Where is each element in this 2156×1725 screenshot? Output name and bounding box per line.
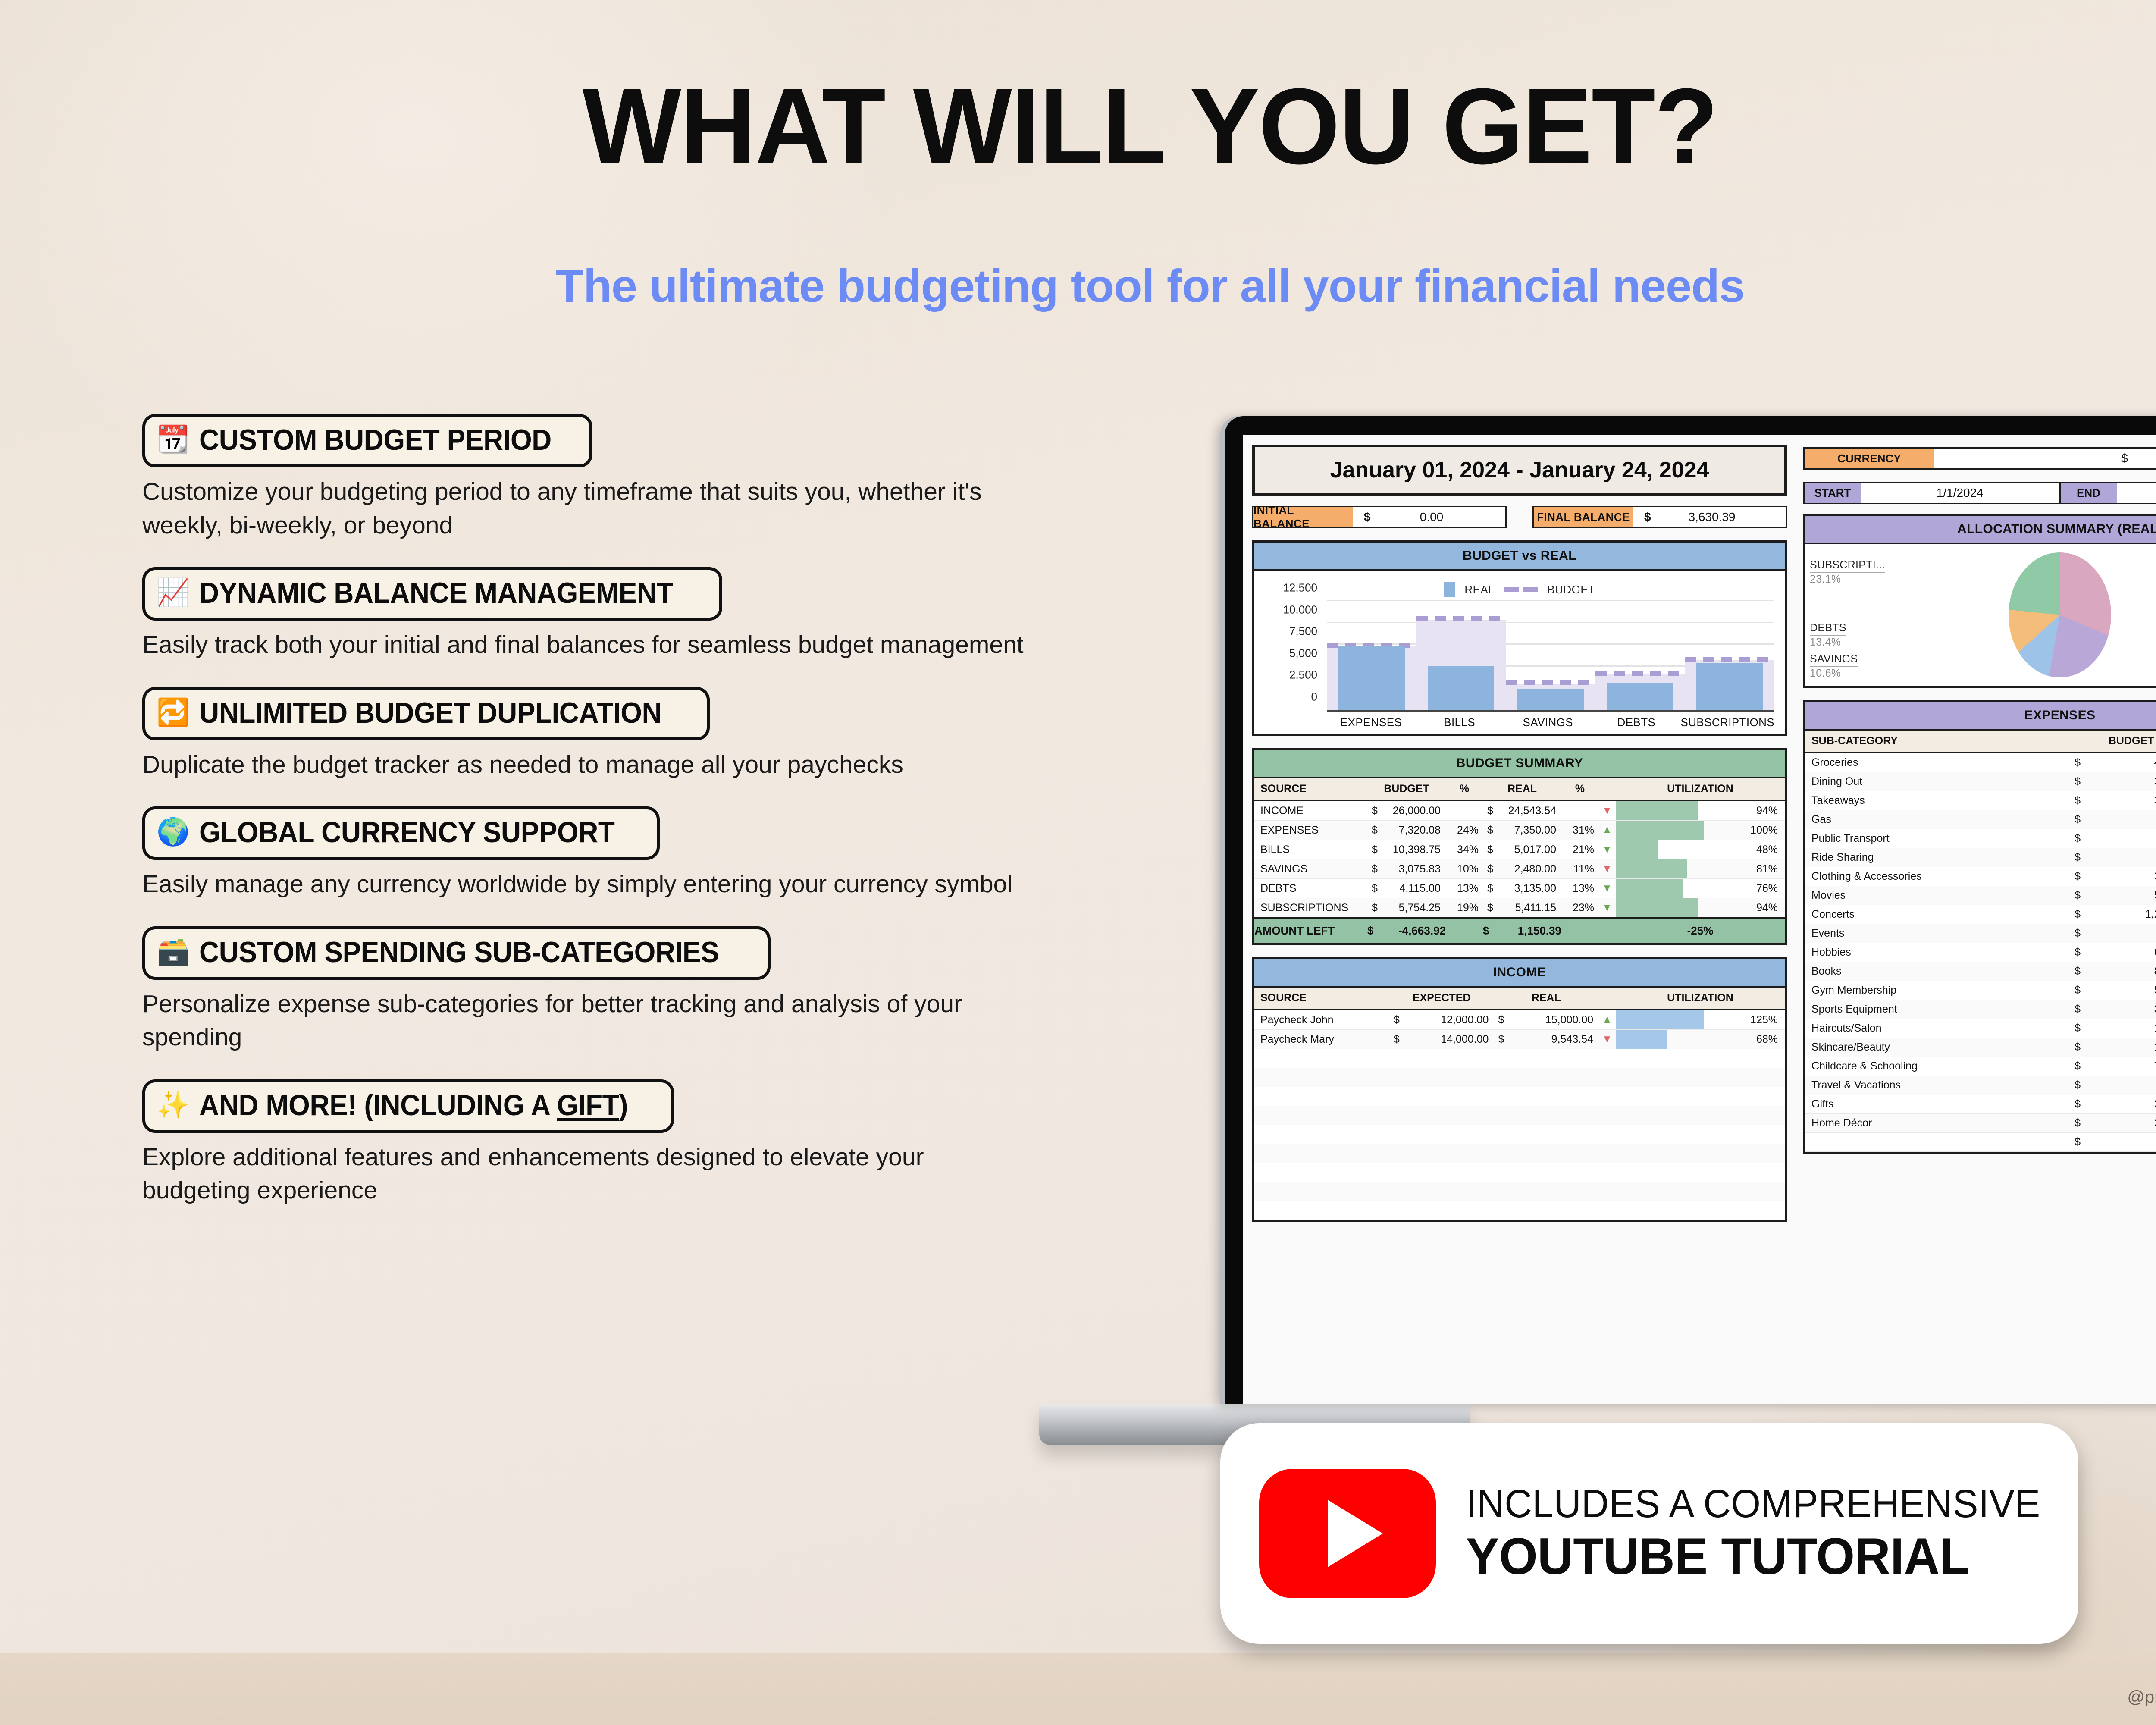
chart-x-tick: DEBTS xyxy=(1592,716,1680,729)
laptop-screen: January 01, 2024 - January 24, 2024 INIT… xyxy=(1243,435,2156,1404)
final-balance-amount: 3,630.39 xyxy=(1655,510,1774,524)
legend-label-real: REAL xyxy=(1464,583,1495,596)
cell-budget: 493.75 xyxy=(2085,753,2156,772)
table-row: INCOME $ 26,000.00 $ 24,543.54 ▼ 94% xyxy=(1254,800,1785,821)
cell-subcategory: Public Transport xyxy=(1805,829,2070,848)
pie-label-savings: SAVINGS10.6% xyxy=(1810,653,1858,680)
calendar-icon: 📆 xyxy=(157,427,190,453)
cell-currency: $ xyxy=(1367,918,1382,943)
date-range-fields[interactable]: START 1/1/2024 END 1/24/2024 xyxy=(1803,482,2156,504)
cell-total-real: 1,150.39 xyxy=(1498,918,1561,943)
table-row-empty xyxy=(1254,1201,1785,1220)
cell-total-budget: -4,663.92 xyxy=(1382,918,1446,943)
final-balance-field[interactable]: FINAL BALANCE $ 3,630.39 xyxy=(1532,506,1787,528)
repeat-icon: 🔁 xyxy=(157,699,190,726)
bottom-band xyxy=(0,1653,2156,1725)
cell-budget: 125.00 xyxy=(2085,1019,2156,1038)
cell-source: INCOME xyxy=(1254,800,1367,821)
currency-field[interactable]: CURRENCY $ xyxy=(1803,447,2156,470)
cell-budget-pct: 13% xyxy=(1446,879,1483,898)
table-row: Gym Membership $ 575.00 $ 575.00 xyxy=(1805,981,2156,1000)
youtube-badge-line1: INCLUDES A COMPREHENSIVE xyxy=(1466,1481,2040,1527)
cell-real: 5,017.00 xyxy=(1498,840,1561,859)
feature-description: Personalize expense sub-categories for b… xyxy=(142,988,1031,1054)
expenses-title-text: EXPENSES xyxy=(2024,708,2096,723)
table-row-empty xyxy=(1254,1068,1785,1087)
cell-budget: 0.00 xyxy=(2085,848,2156,867)
chart-bar-group xyxy=(1685,601,1774,710)
table-header-row: SOURCE EXPECTED REAL UTILIZATION xyxy=(1254,988,1785,1010)
cell-budget: 10,398.75 xyxy=(1382,840,1446,859)
currency-label: CURRENCY xyxy=(1805,448,1934,468)
cell-budget: 1,200.00 xyxy=(2085,905,2156,924)
cell-currency: $ xyxy=(2070,943,2085,962)
cell-currency: $ xyxy=(2070,886,2085,905)
cell-currency: $ xyxy=(1483,879,1498,898)
table-row: DEBTS $ 4,115.00 13% $ 3,135.00 13% ▼ 76… xyxy=(1254,879,1785,898)
table-row-empty xyxy=(1254,1049,1785,1068)
chart-real-bar xyxy=(1428,666,1495,710)
chart-x-axis-labels: EXPENSESBILLSSAVINGSDEBTSSUBSCRIPTIONS xyxy=(1327,716,1774,729)
cell-source: Paycheck Mary xyxy=(1254,1030,1389,1049)
feature-description: Explore additional features and enhancem… xyxy=(142,1141,1031,1207)
table-row: EXPENSES $ 7,320.08 24% $ 7,350.00 31% ▲… xyxy=(1254,821,1785,840)
cell-subcategory: Clothing & Accessories xyxy=(1805,867,2070,886)
chart-bars xyxy=(1327,601,1774,710)
trend-arrow-icon: ▲ xyxy=(1598,821,1616,840)
watermark: @prioridigitalstudio xyxy=(2127,1687,2156,1707)
cell-budget: 300.00 xyxy=(2085,791,2156,810)
table-row: Concerts $ 1,200.00 $ 1,135.00 xyxy=(1805,905,2156,924)
table-row: Events $ 110.00 $ 110.00 xyxy=(1805,924,2156,943)
cell-subcategory: Childcare & Schooling xyxy=(1805,1057,2070,1076)
cell-subcategory: Takeaways xyxy=(1805,791,2070,810)
cell-utilization-pct: 48% xyxy=(1745,840,1785,859)
cell-budget: 7,320.08 xyxy=(1382,821,1446,840)
legend-label-budget: BUDGET xyxy=(1547,583,1595,596)
cell-budget-pct: 34% xyxy=(1446,840,1483,859)
cell-budget: 325.00 xyxy=(2085,867,2156,886)
final-balance-value: $ 3,630.39 xyxy=(1633,507,1786,527)
currency-symbol: $ xyxy=(1640,510,1655,524)
table-header-row: SUB-CATEGORY BUDGET REAL xyxy=(1805,731,2156,753)
chart-bar-group xyxy=(1595,601,1685,710)
cell-utilization-pct: 125% xyxy=(1745,1010,1785,1030)
cell-currency: $ xyxy=(2070,1076,2085,1095)
initial-balance-value: $ 0.00 xyxy=(1353,507,1505,527)
table-row: Paycheck Mary $ 14,000.00 $ 9,543.54 ▼ 6… xyxy=(1254,1030,1785,1049)
table-row: Groceries $ 493.75 $ 395.00 xyxy=(1805,753,2156,772)
chart-real-bar xyxy=(1607,683,1673,710)
table-row: Clothing & Accessories $ 325.00 $ 455.00 xyxy=(1805,867,2156,886)
feature-item: 📈 DYNAMIC BALANCE MANAGEMENT Easily trac… xyxy=(142,567,1052,662)
column-header: REAL xyxy=(1483,778,1561,800)
feature-pill: 📆 CUSTOM BUDGET PERIOD xyxy=(142,414,592,467)
cell-utilization-bar xyxy=(1616,898,1745,919)
trend-arrow-icon: ▼ xyxy=(1598,879,1616,898)
chart-y-tick: 7,500 xyxy=(1289,625,1327,638)
cell-currency: $ xyxy=(2070,1019,2085,1038)
feature-description: Easily track both your initial and final… xyxy=(142,628,1031,662)
spreadsheet: January 01, 2024 - January 24, 2024 INIT… xyxy=(1243,435,2156,1404)
table-row-empty xyxy=(1254,1125,1785,1144)
cell-subcategory: Groceries xyxy=(1805,753,2070,772)
youtube-tutorial-badge[interactable]: INCLUDES A COMPREHENSIVE YOUTUBE TUTORIA… xyxy=(1220,1423,2078,1644)
cell-currency: $ xyxy=(2070,1038,2085,1057)
cell-budget: 100.00 xyxy=(2085,1038,2156,1057)
start-date-value: 1/1/2024 xyxy=(1861,483,2061,503)
youtube-play-icon xyxy=(1259,1469,1436,1598)
chart-increasing-icon: 📈 xyxy=(157,580,190,606)
cell-utilization-bar xyxy=(1616,859,1745,879)
sparkles-icon: ✨ xyxy=(157,1092,190,1119)
cell-utilization-pct: 81% xyxy=(1745,859,1785,879)
table-total-row: AMOUNT LEFT $ -4,663.92 $ 1,150.39 -25% xyxy=(1254,918,1785,943)
cell-budget: 27.50 xyxy=(2085,810,2156,829)
chart-bar-group xyxy=(1416,601,1506,710)
cell-currency: $ xyxy=(2070,1095,2085,1114)
income-title: INCOME xyxy=(1254,959,1785,988)
cell-utilization-bar xyxy=(1616,840,1745,859)
cell-budget: 612.50 xyxy=(2085,943,2156,962)
cell-currency: $ xyxy=(2070,1057,2085,1076)
cell-currency: $ xyxy=(2070,1133,2085,1152)
chart-legend: REAL BUDGET xyxy=(1262,578,1777,601)
cell-currency: $ xyxy=(2070,848,2085,867)
cell-real: 2,480.00 xyxy=(1498,859,1561,879)
cell-real-pct: 31% xyxy=(1561,821,1598,840)
cell-total-label: AMOUNT LEFT xyxy=(1254,918,1367,943)
feature-pill: ✨ AND MORE! (INCLUDING A GIFT) xyxy=(142,1079,674,1133)
feature-pill: 📈 DYNAMIC BALANCE MANAGEMENT xyxy=(142,567,722,621)
cell-source: BILLS xyxy=(1254,840,1367,859)
chart-x-tick: SUBSCRIPTIONS xyxy=(1680,716,1774,729)
cell-real: 3,135.00 xyxy=(1498,879,1561,898)
cell-currency: $ xyxy=(2070,1114,2085,1133)
cell-budget: 82.50 xyxy=(2085,1076,2156,1095)
trend-arrow-icon: ▼ xyxy=(1598,859,1616,879)
cell-budget-pct: 24% xyxy=(1446,821,1483,840)
cell-currency: $ xyxy=(2070,772,2085,791)
cell-subcategory: Gym Membership xyxy=(1805,981,2070,1000)
budget-vs-real-title: BUDGET vs REAL xyxy=(1254,543,1785,571)
cell-budget: 575.00 xyxy=(2085,981,2156,1000)
table-row-empty xyxy=(1254,1182,1785,1201)
table-row-empty xyxy=(1254,1106,1785,1125)
table-row: Childcare & Schooling $ 776.00 $ 970.00 xyxy=(1805,1057,2156,1076)
cell-budget: 350.00 xyxy=(2085,772,2156,791)
cell-budget: 26,000.00 xyxy=(1382,800,1446,821)
chart-real-bar xyxy=(1696,663,1763,710)
column-header: SOURCE xyxy=(1254,778,1367,800)
cell-source: Paycheck John xyxy=(1254,1010,1389,1030)
cell-currency: $ xyxy=(2070,829,2085,848)
cell-currency: $ xyxy=(1483,918,1498,943)
cell-budget-pct: 19% xyxy=(1446,898,1483,919)
table-row: Skincare/Beauty $ 100.00 $ 85.00 xyxy=(1805,1038,2156,1057)
cell-source: SAVINGS xyxy=(1254,859,1367,879)
column-header: SUB-CATEGORY xyxy=(1805,731,2070,753)
currency-symbol: $ xyxy=(1360,510,1374,524)
cell-subcategory: Home Décor xyxy=(1805,1114,2070,1133)
cell-real: 15,000.00 xyxy=(1508,1010,1598,1030)
cell-source: DEBTS xyxy=(1254,879,1367,898)
initial-balance-label: INITIAL BALANCE xyxy=(1253,507,1353,527)
cell-subcategory xyxy=(1805,1133,2070,1152)
cell-real-pct: 21% xyxy=(1561,840,1598,859)
column-header: BUDGET xyxy=(2070,731,2156,753)
allocation-pie-chart: SUBSCRIPTI...23.1% DEBTS13.4% SAVINGS10.… xyxy=(1805,544,2156,686)
feature-title: CUSTOM BUDGET PERIOD xyxy=(199,423,552,457)
table-row: BILLS $ 10,398.75 34% $ 5,017.00 21% ▼ 4… xyxy=(1254,840,1785,859)
table-row: Books $ 825.00 $ 825.00 xyxy=(1805,962,2156,981)
cell-subcategory: Movies xyxy=(1805,886,2070,905)
cell-currency: $ xyxy=(1367,879,1382,898)
initial-balance-amount: 0.00 xyxy=(1374,510,1494,524)
table-row: Gas $ 27.50 $ 55.00 xyxy=(1805,810,2156,829)
cell-utilization-pct: 94% xyxy=(1745,898,1785,919)
cell-utilization-pct: 94% xyxy=(1745,800,1785,821)
cell-utilization-bar xyxy=(1616,1010,1745,1030)
trend-arrow-icon: ▼ xyxy=(1598,898,1616,919)
cell-expected: 14,000.00 xyxy=(1404,1030,1494,1049)
cell-budget-pct: 10% xyxy=(1446,859,1483,879)
cell-budget: 110.00 xyxy=(2085,924,2156,943)
cell-currency: $ xyxy=(1389,1010,1404,1030)
table-row: Public Transport $ 12.50 $ 0.00 xyxy=(1805,829,2156,848)
budget-vs-real-chart: REAL BUDGET 02,5005,0007,50010,00012,500… xyxy=(1254,571,1785,734)
chart-y-tick: 12,500 xyxy=(1283,581,1327,595)
trend-arrow-icon: ▲ xyxy=(1598,1010,1616,1030)
allocation-summary-title: ALLOCATION SUMMARY (REAL) ▾ xyxy=(1805,516,2156,544)
table-row-empty xyxy=(1254,1087,1785,1106)
feature-title: CUSTOM SPENDING SUB-CATEGORIES xyxy=(199,935,719,969)
feature-description: Easily manage any currency worldwide by … xyxy=(142,868,1031,901)
cell-currency: $ xyxy=(2070,1000,2085,1019)
chart-real-bar xyxy=(1517,689,1584,710)
chart-x-tick: EXPENSES xyxy=(1327,716,1415,729)
laptop-mockup: January 01, 2024 - January 24, 2024 INIT… xyxy=(1225,416,2156,1404)
budget-vs-real-chart-panel: BUDGET vs REAL REAL BUDGET 02,5005,0007,… xyxy=(1252,540,1787,736)
table-row: $ 50.00 xyxy=(1805,1133,2156,1152)
feature-title: GLOBAL CURRENCY SUPPORT xyxy=(199,815,614,849)
start-date-label: START xyxy=(1805,483,1861,503)
feature-description: Duplicate the budget tracker as needed t… xyxy=(142,748,1031,782)
pie-graphic xyxy=(2009,552,2111,677)
feature-pill: 🌍 GLOBAL CURRENCY SUPPORT xyxy=(142,806,660,860)
cell-subcategory: Ride Sharing xyxy=(1805,848,2070,867)
table-row: Ride Sharing $ 0.00 $ 0.00 xyxy=(1805,848,2156,867)
column-header: UTILIZATION xyxy=(1616,988,1785,1010)
expenses-table: SUB-CATEGORY BUDGET REAL Groceries $ 493… xyxy=(1805,731,2156,1152)
allocation-summary-panel: ALLOCATION SUMMARY (REAL) ▾ SUBSCRIPTI..… xyxy=(1803,514,2156,688)
budget-period-header: January 01, 2024 - January 24, 2024 xyxy=(1252,445,1787,496)
cell-total-pct: -25% xyxy=(1616,918,1785,943)
page-subtitle: The ultimate budgeting tool for all your… xyxy=(0,259,2156,313)
end-date-label: END xyxy=(2061,483,2117,503)
cell-expected: 12,000.00 xyxy=(1404,1010,1494,1030)
table-row: Travel & Vacations $ 82.50 $ 55.00 xyxy=(1805,1076,2156,1095)
cell-currency: $ xyxy=(2070,905,2085,924)
table-row: Gifts $ 268.00 $ 670.00 xyxy=(1805,1095,2156,1114)
cell-subcategory: Travel & Vacations xyxy=(1805,1076,2070,1095)
cell-currency: $ xyxy=(1367,800,1382,821)
feature-item: 🔁 UNLIMITED BUDGET DUPLICATION Duplicate… xyxy=(142,687,1052,782)
cell-budget: 5,754.25 xyxy=(1382,898,1446,919)
chart-plot-area: 02,5005,0007,50010,00012,500 xyxy=(1327,601,1774,712)
feature-item: 📆 CUSTOM BUDGET PERIOD Customize your bu… xyxy=(142,414,1052,542)
cell-real: 24,543.54 xyxy=(1498,800,1561,821)
cell-subcategory: Haircuts/Salon xyxy=(1805,1019,2070,1038)
feature-title: DYNAMIC BALANCE MANAGEMENT xyxy=(199,576,673,610)
cell-budget: 268.00 xyxy=(2085,1095,2156,1114)
cell-subcategory: Dining Out xyxy=(1805,772,2070,791)
table-header-row: SOURCE BUDGET % REAL % UTILIZATION xyxy=(1254,778,1785,800)
page-title: WHAT WILL YOU GET? xyxy=(34,72,2156,180)
feature-item: ✨ AND MORE! (INCLUDING A GIFT) Explore a… xyxy=(142,1079,1052,1207)
cell-real: 5,411.15 xyxy=(1498,898,1561,919)
feature-pill: 🗃️ CUSTOM SPENDING SUB-CATEGORIES xyxy=(142,926,771,980)
cell-real-pct xyxy=(1561,800,1598,821)
cell-utilization-bar xyxy=(1616,821,1745,840)
feature-title: UNLIMITED BUDGET DUPLICATION xyxy=(199,696,661,730)
chart-y-tick: 10,000 xyxy=(1283,603,1327,616)
pie-label-debts: DEBTS13.4% xyxy=(1810,622,1846,649)
table-row: Hobbies $ 612.50 $ 245.00 xyxy=(1805,943,2156,962)
balance-row: INITIAL BALANCE $ 0.00 FINAL BALANCE $ 3… xyxy=(1252,506,1787,528)
cell-currency: $ xyxy=(2070,791,2085,810)
cell-budget: 4,115.00 xyxy=(1382,879,1446,898)
feature-item: 🗃️ CUSTOM SPENDING SUB-CATEGORIES Person… xyxy=(142,926,1052,1054)
pie-label-subscriptions: SUBSCRIPTI...23.1% xyxy=(1810,559,1885,586)
cell-budget-pct xyxy=(1446,800,1483,821)
income-panel: INCOME SOURCE EXPECTED REAL UTILIZATION … xyxy=(1252,957,1787,1222)
cell-utilization-bar xyxy=(1616,1030,1745,1049)
cell-currency: $ xyxy=(2070,981,2085,1000)
chart-y-tick: 2,500 xyxy=(1289,668,1327,682)
cell-currency: $ xyxy=(1389,1030,1404,1049)
chart-real-bar xyxy=(1338,646,1405,710)
cell-subcategory: Concerts xyxy=(1805,905,2070,924)
cell-currency: $ xyxy=(1483,800,1498,821)
cell-currency: $ xyxy=(1494,1010,1508,1030)
feature-list: 📆 CUSTOM BUDGET PERIOD Customize your bu… xyxy=(142,414,1052,1233)
cell-currency: $ xyxy=(1483,859,1498,879)
feature-title: AND MORE! (INCLUDING A GIFT) xyxy=(199,1088,628,1122)
cell-subcategory: Sports Equipment xyxy=(1805,1000,2070,1019)
cell-currency: $ xyxy=(1367,898,1382,919)
cell-currency: $ xyxy=(2070,810,2085,829)
table-row-empty xyxy=(1254,1144,1785,1163)
cell-utilization-pct: 100% xyxy=(1745,821,1785,840)
trend-arrow-icon: ▼ xyxy=(1598,800,1616,821)
cell-budget: 776.00 xyxy=(2085,1057,2156,1076)
chart-y-tick: 5,000 xyxy=(1289,646,1327,660)
cell-currency: $ xyxy=(2070,924,2085,943)
cell-utilization-bar xyxy=(1616,879,1745,898)
initial-balance-field[interactable]: INITIAL BALANCE $ 0.00 xyxy=(1252,506,1507,528)
cell-subcategory: Skincare/Beauty xyxy=(1805,1038,2070,1057)
feature-pill: 🔁 UNLIMITED BUDGET DUPLICATION xyxy=(142,687,710,740)
table-row: Takeaways $ 300.00 $ 220.00 xyxy=(1805,791,2156,810)
table-row-empty xyxy=(1254,1163,1785,1182)
cell-source: EXPENSES xyxy=(1254,821,1367,840)
table-row: Paycheck John $ 12,000.00 $ 15,000.00 ▲ … xyxy=(1254,1010,1785,1030)
cell-budget: 500.00 xyxy=(2085,886,2156,905)
column-header: SOURCE xyxy=(1254,988,1389,1010)
allocation-summary-title-text: ALLOCATION SUMMARY (REAL) xyxy=(1957,522,2156,536)
column-header: EXPECTED xyxy=(1389,988,1494,1010)
table-row: Movies $ 500.00 $ 335.00 xyxy=(1805,886,2156,905)
cell-currency: $ xyxy=(1483,898,1498,919)
cell-real-pct: 13% xyxy=(1561,879,1598,898)
cell-currency: $ xyxy=(1494,1030,1508,1049)
chart-bar-group xyxy=(1506,601,1595,710)
chart-x-tick: BILLS xyxy=(1415,716,1504,729)
cell-currency: $ xyxy=(1367,840,1382,859)
currency-value: $ xyxy=(1934,448,2156,468)
cell-real: 9,543.54 xyxy=(1508,1030,1598,1049)
table-row: Sports Equipment $ 324.00 $ 540.00 xyxy=(1805,1000,2156,1019)
cell-budget: 12.50 xyxy=(2085,829,2156,848)
cell-budget: 3,075.83 xyxy=(1382,859,1446,879)
income-table: SOURCE EXPECTED REAL UTILIZATION Paychec… xyxy=(1254,988,1785,1220)
cell-currency: $ xyxy=(1483,840,1498,859)
table-row: Dining Out $ 350.00 $ 210.00 xyxy=(1805,772,2156,791)
sheet-left-column: January 01, 2024 - January 24, 2024 INIT… xyxy=(1252,445,1787,1222)
column-header: % xyxy=(1561,778,1598,800)
cell-budget: 50.00 xyxy=(2085,1133,2156,1152)
column-header: % xyxy=(1446,778,1483,800)
cell-currency: $ xyxy=(1367,821,1382,840)
budget-summary-panel: BUDGET SUMMARY SOURCE BUDGET % REAL % UT… xyxy=(1252,748,1787,945)
cell-subcategory: Books xyxy=(1805,962,2070,981)
feature-item: 🌍 GLOBAL CURRENCY SUPPORT Easily manage … xyxy=(142,806,1052,901)
table-row: SUBSCRIPTIONS $ 5,754.25 19% $ 5,411.15 … xyxy=(1254,898,1785,919)
cell-budget: 263.33 xyxy=(2085,1114,2156,1133)
legend-swatch-real xyxy=(1444,582,1455,597)
expenses-panel: EXPENSES SUB-CATEGORY BUDGET REAL Grocer… xyxy=(1803,700,2156,1154)
youtube-badge-line2: YOUTUBE TUTORIAL xyxy=(1466,1527,2040,1586)
column-header: REAL xyxy=(1494,988,1598,1010)
cell-real-pct: 23% xyxy=(1561,898,1598,919)
cell-subcategory: Gifts xyxy=(1805,1095,2070,1114)
budget-summary-table: SOURCE BUDGET % REAL % UTILIZATION INCOM… xyxy=(1254,778,1785,943)
legend-swatch-budget xyxy=(1504,587,1538,592)
trend-arrow-icon: ▼ xyxy=(1598,1030,1616,1049)
expenses-title: EXPENSES xyxy=(1805,702,2156,731)
cell-utilization-bar xyxy=(1616,800,1745,821)
budget-summary-title: BUDGET SUMMARY xyxy=(1254,750,1785,778)
cell-budget: 825.00 xyxy=(2085,962,2156,981)
cell-currency: $ xyxy=(1483,821,1498,840)
card-file-box-icon: 🗃️ xyxy=(157,939,190,966)
cell-currency: $ xyxy=(2070,867,2085,886)
trend-arrow-icon: ▼ xyxy=(1598,840,1616,859)
column-header: UTILIZATION xyxy=(1616,778,1785,800)
cell-subcategory: Events xyxy=(1805,924,2070,943)
table-row: Haircuts/Salon $ 125.00 $ 75.00 xyxy=(1805,1019,2156,1038)
chart-bar-group xyxy=(1327,601,1416,710)
cell-currency: $ xyxy=(2070,962,2085,981)
table-row: SAVINGS $ 3,075.83 10% $ 2,480.00 11% ▼ … xyxy=(1254,859,1785,879)
cell-utilization-pct: 76% xyxy=(1745,879,1785,898)
cell-currency: $ xyxy=(2070,753,2085,772)
final-balance-label: FINAL BALANCE xyxy=(1534,507,1633,527)
cell-utilization-pct: 68% xyxy=(1745,1030,1785,1049)
cell-real: 7,350.00 xyxy=(1498,821,1561,840)
globe-icon: 🌍 xyxy=(157,819,190,846)
